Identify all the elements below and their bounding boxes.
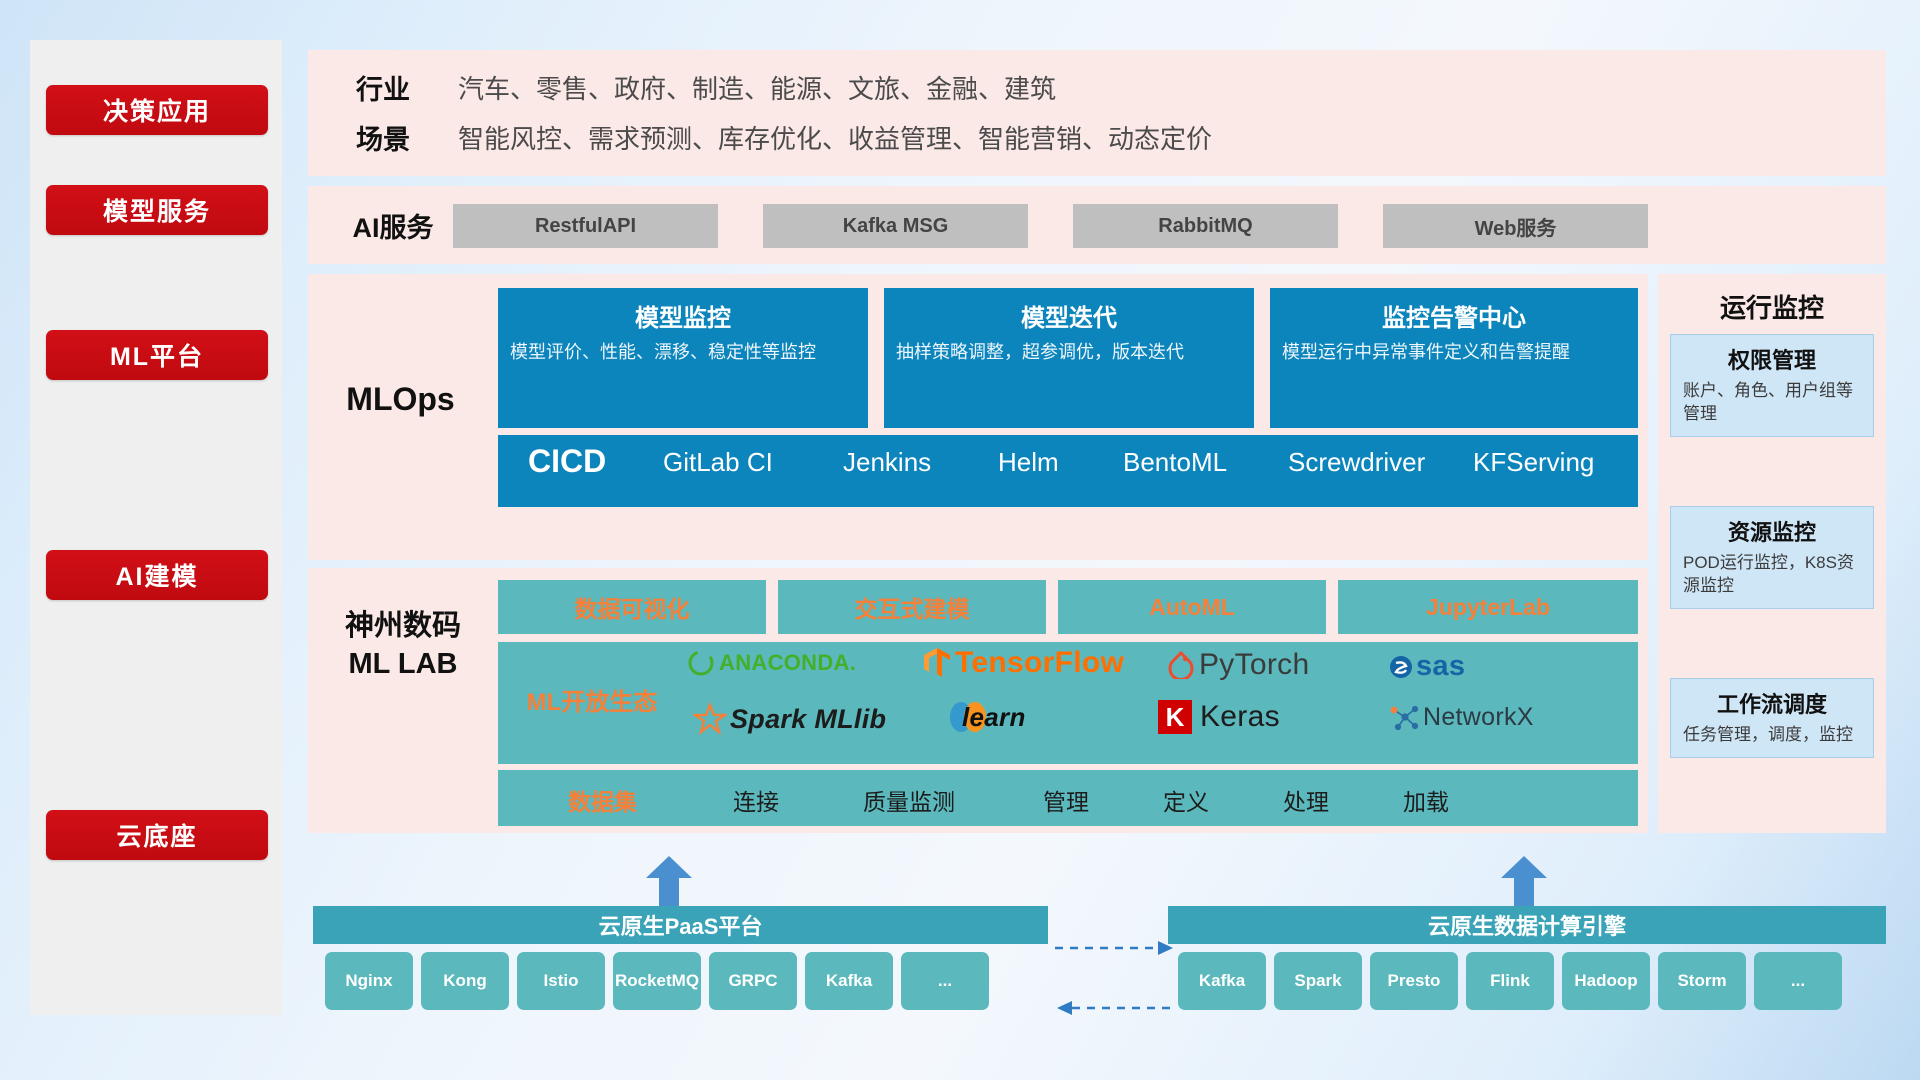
spark-logo-text: Spark MLlib	[730, 704, 886, 735]
rail-item-model-service[interactable]: 模型服务	[46, 185, 268, 235]
paas-chip-row: Nginx Kong Istio RocketMQ GRPC Kafka ...	[325, 952, 989, 1010]
anaconda-glyph	[688, 650, 714, 676]
networkx-logo: NetworkX	[1388, 702, 1534, 732]
rail-item-decision-app[interactable]: 决策应用	[46, 85, 268, 135]
industry-scenario-band: 行业 汽车、零售、政府、制造、能源、文旅、金融、建筑 场景 智能风控、需求预测、…	[308, 50, 1886, 176]
cicd-item-gitlab-ci[interactable]: GitLab CI	[663, 447, 813, 478]
dashed-right-arrow-icon	[1055, 940, 1175, 956]
runtime-monitoring-title: 运行监控	[1658, 288, 1886, 325]
cicd-item-helm[interactable]: Helm	[998, 447, 1098, 478]
card-desc: POD运行监控，K8S资源监控	[1671, 552, 1873, 608]
dashed-left-arrow-icon	[1055, 1000, 1175, 1016]
engine-chip-kafka[interactable]: Kafka	[1178, 952, 1266, 1010]
sas-glyph	[1388, 654, 1414, 680]
networkx-glyph	[1388, 702, 1420, 732]
card-title: 工作流调度	[1671, 679, 1873, 724]
card-desc: 任务管理，调度，监控	[1671, 724, 1873, 757]
card-title: 模型监控	[510, 298, 856, 333]
cicd-bar: CICD GitLab CI Jenkins Helm BentoML Scre…	[498, 435, 1638, 507]
card-title: 监控告警中心	[1282, 298, 1626, 333]
engine-chip-more[interactable]: ...	[1754, 952, 1842, 1010]
arrow-right-dashed	[1055, 940, 1175, 961]
monitor-card-resource[interactable]: 资源监控 POD运行监控，K8S资源监控	[1670, 506, 1874, 609]
cicd-item-screwdriver[interactable]: Screwdriver	[1288, 447, 1438, 478]
card-title: 权限管理	[1671, 335, 1873, 380]
ml-lab-label: 神州数码 ML LAB	[308, 608, 498, 683]
dataset-item-define[interactable]: 定义	[1163, 783, 1209, 817]
left-rail: 决策应用 模型服务 ML平台 AI建模 云底座	[30, 40, 282, 1015]
rail-item-ml-platform[interactable]: ML平台	[46, 330, 268, 380]
industry-label: 行业	[308, 68, 458, 107]
dataset-item-quality[interactable]: 质量监测	[863, 783, 955, 817]
tensorflow-glyph	[923, 647, 951, 679]
ml-lab-label-line2: ML LAB	[348, 648, 457, 680]
mlops-band: MLOps 模型监控 模型评价、性能、漂移、稳定性等监控 模型迭代 抽样策略调整…	[308, 274, 1648, 560]
scikit-learn-logo: learn	[948, 700, 1026, 734]
anaconda-logo: ANACONDA.	[688, 650, 856, 676]
industry-value: 汽车、零售、政府、制造、能源、文旅、金融、建筑	[458, 69, 1056, 106]
paas-chip-kafka[interactable]: Kafka	[805, 952, 893, 1010]
engine-chip-storm[interactable]: Storm	[1658, 952, 1746, 1010]
spark-star-glyph	[693, 702, 727, 736]
industry-row: 行业 汽车、零售、政府、制造、能源、文旅、金融、建筑	[308, 68, 1886, 107]
engine-title-bar: 云原生数据计算引擎	[1168, 906, 1886, 944]
diagram-canvas: 决策应用 模型服务 ML平台 AI建模 云底座 行业 汽车、零售、政府、制造、能…	[0, 0, 1920, 1080]
ai-service-label: AI服务	[318, 186, 468, 264]
tile-automl[interactable]: AutoML	[1058, 580, 1326, 634]
cicd-item-bentoml[interactable]: BentoML	[1123, 447, 1233, 478]
pytorch-glyph	[1168, 651, 1194, 679]
sas-logo-text: sas	[1416, 650, 1465, 683]
paas-chip-kong[interactable]: Kong	[421, 952, 509, 1010]
up-arrow-icon	[1500, 856, 1548, 908]
paas-chip-nginx[interactable]: Nginx	[325, 952, 413, 1010]
tile-interactive-modeling[interactable]: 交互式建模	[778, 580, 1046, 634]
engine-chip-hadoop[interactable]: Hadoop	[1562, 952, 1650, 1010]
tile-data-visualization[interactable]: 数据可视化	[498, 580, 766, 634]
scenario-value: 智能风控、需求预测、库存优化、收益管理、智能营销、动态定价	[458, 119, 1212, 156]
runtime-monitoring-column: 运行监控 权限管理 账户、角色、用户组等管理 资源监控 POD运行监控，K8S资…	[1658, 274, 1886, 833]
ml-ecosystem-box: ML开放生态 ANACONDA. TensorFlow	[498, 642, 1638, 764]
apache-spark-mllib-logo: Spark MLlib	[693, 702, 886, 736]
keras-glyph: K	[1158, 700, 1192, 734]
scenario-label: 场景	[308, 118, 458, 157]
pytorch-logo: PyTorch	[1168, 648, 1309, 682]
tile-jupyterlab[interactable]: JupyterLab	[1338, 580, 1638, 634]
scikit-learn-logo-text: learn	[962, 702, 1026, 733]
dataset-item-load[interactable]: 加载	[1403, 783, 1449, 817]
tensorflow-logo-text: TensorFlow	[955, 646, 1124, 680]
keras-logo-text: Keras	[1200, 700, 1280, 734]
dataset-item-manage[interactable]: 管理	[1043, 783, 1089, 817]
engine-chip-flink[interactable]: Flink	[1466, 952, 1554, 1010]
rail-item-ai-modeling[interactable]: AI建模	[46, 550, 268, 600]
service-chip-rabbitmq[interactable]: RabbitMQ	[1073, 204, 1338, 248]
mlops-card-model-monitoring[interactable]: 模型监控 模型评价、性能、漂移、稳定性等监控	[498, 288, 868, 428]
arrow-left-dashed	[1055, 1000, 1175, 1021]
paas-chip-rocketmq[interactable]: RocketMQ	[613, 952, 701, 1010]
monitor-card-workflow[interactable]: 工作流调度 任务管理，调度，监控	[1670, 678, 1874, 758]
arrow-up-engine	[1500, 856, 1548, 913]
ai-service-band: AI服务 RestfulAPI Kafka MSG RabbitMQ Web服务	[308, 186, 1886, 264]
up-arrow-icon	[645, 856, 693, 908]
paas-chip-more[interactable]: ...	[901, 952, 989, 1010]
service-chip-web-service[interactable]: Web服务	[1383, 204, 1648, 248]
tensorflow-logo: TensorFlow	[923, 646, 1124, 680]
paas-title-bar: 云原生PaaS平台	[313, 906, 1048, 944]
dataset-label: 数据集	[568, 783, 637, 817]
anaconda-logo-text: ANACONDA.	[719, 650, 856, 676]
mlops-card-alert-center[interactable]: 监控告警中心 模型运行中异常事件定义和告警提醒	[1270, 288, 1638, 428]
dataset-item-process[interactable]: 处理	[1283, 783, 1329, 817]
mlops-label: MLOps	[308, 274, 493, 524]
paas-chip-grpc[interactable]: GRPC	[709, 952, 797, 1010]
monitor-card-permission[interactable]: 权限管理 账户、角色、用户组等管理	[1670, 334, 1874, 437]
engine-chip-presto[interactable]: Presto	[1370, 952, 1458, 1010]
cicd-item-kfserving[interactable]: KFServing	[1473, 447, 1613, 478]
ml-ecosystem-label: ML开放生态	[512, 682, 672, 717]
engine-chip-spark[interactable]: Spark	[1274, 952, 1362, 1010]
paas-chip-istio[interactable]: Istio	[517, 952, 605, 1010]
card-desc: 模型评价、性能、漂移、稳定性等监控	[510, 341, 856, 365]
dataset-item-connect[interactable]: 连接	[733, 783, 779, 817]
ml-lab-label-line1: 神州数码	[345, 610, 461, 642]
pytorch-logo-text: PyTorch	[1199, 648, 1309, 682]
cicd-item-jenkins[interactable]: Jenkins	[843, 447, 953, 478]
card-desc: 账户、角色、用户组等管理	[1671, 380, 1873, 436]
card-title: 模型迭代	[896, 298, 1242, 333]
engine-chip-row: Kafka Spark Presto Flink Hadoop Storm ..…	[1178, 952, 1842, 1010]
networkx-logo-text: NetworkX	[1423, 703, 1534, 732]
arrow-up-paas	[645, 856, 693, 913]
card-title: 资源监控	[1671, 507, 1873, 552]
service-chip-restfulapi[interactable]: RestfulAPI	[453, 204, 718, 248]
scenario-row: 场景 智能风控、需求预测、库存优化、收益管理、智能营销、动态定价	[308, 118, 1886, 157]
card-desc: 模型运行中异常事件定义和告警提醒	[1282, 341, 1626, 365]
dataset-row: 数据集 连接 质量监测 管理 定义 处理 加载	[498, 770, 1638, 826]
ai-modeling-band: 神州数码 ML LAB 数据可视化 交互式建模 AutoML JupyterLa…	[308, 568, 1648, 833]
cicd-title: CICD	[528, 443, 606, 480]
sas-logo: sas	[1388, 650, 1465, 683]
card-desc: 抽样策略调整，超参调优，版本迭代	[896, 341, 1242, 365]
rail-item-cloud-base[interactable]: 云底座	[46, 810, 268, 860]
service-chip-kafka-msg[interactable]: Kafka MSG	[763, 204, 1028, 248]
mlops-card-model-iteration[interactable]: 模型迭代 抽样策略调整，超参调优，版本迭代	[884, 288, 1254, 428]
keras-logo: K Keras	[1158, 700, 1280, 734]
